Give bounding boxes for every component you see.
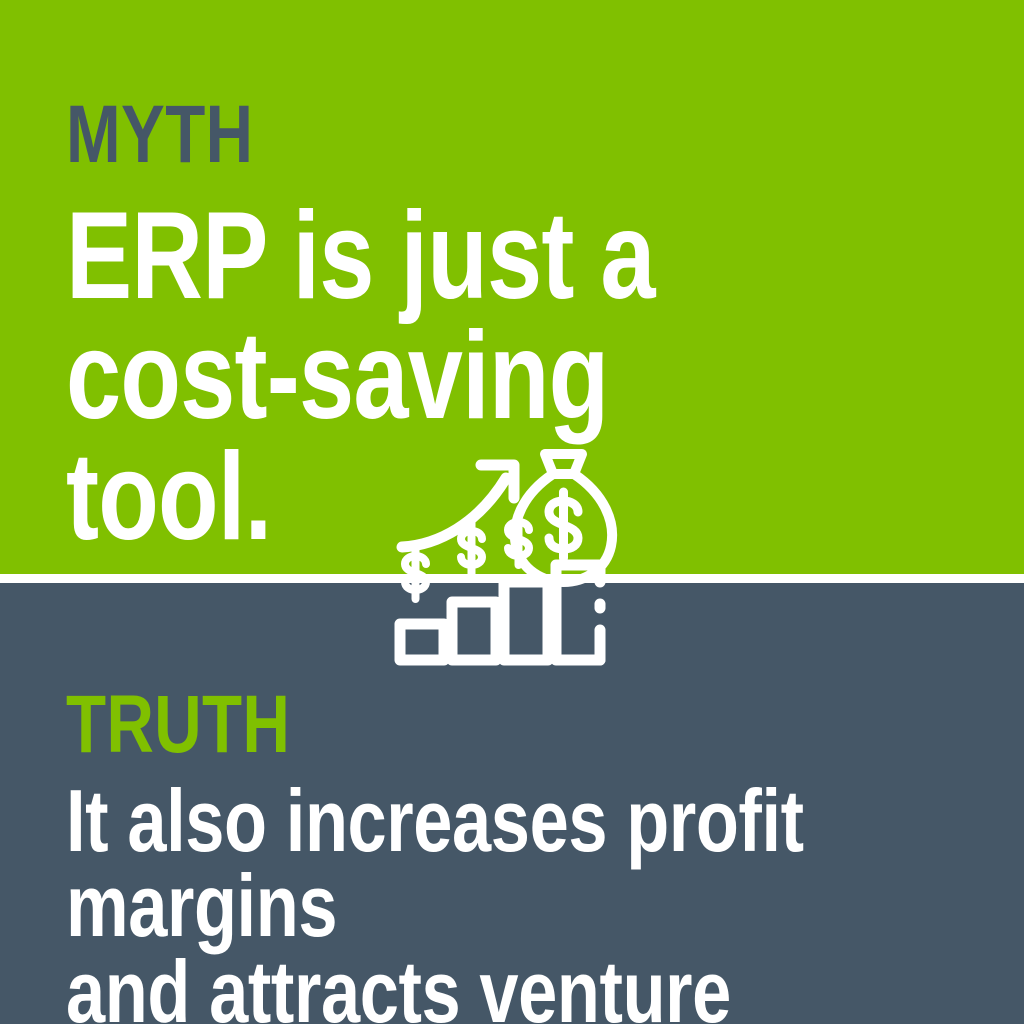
- myth-headline: ERP is just a cost-saving tool.: [66, 196, 832, 557]
- truth-kicker: TRUTH: [66, 684, 290, 766]
- truth-headline: It also increases profit margins and att…: [66, 778, 832, 1024]
- myth-kicker: MYTH: [66, 94, 253, 176]
- text-layer: MYTH ERP is just a cost-saving tool. TRU…: [0, 0, 1024, 1024]
- myth-vs-truth-card: MYTH ERP is just a cost-saving tool. TRU…: [0, 0, 1024, 1024]
